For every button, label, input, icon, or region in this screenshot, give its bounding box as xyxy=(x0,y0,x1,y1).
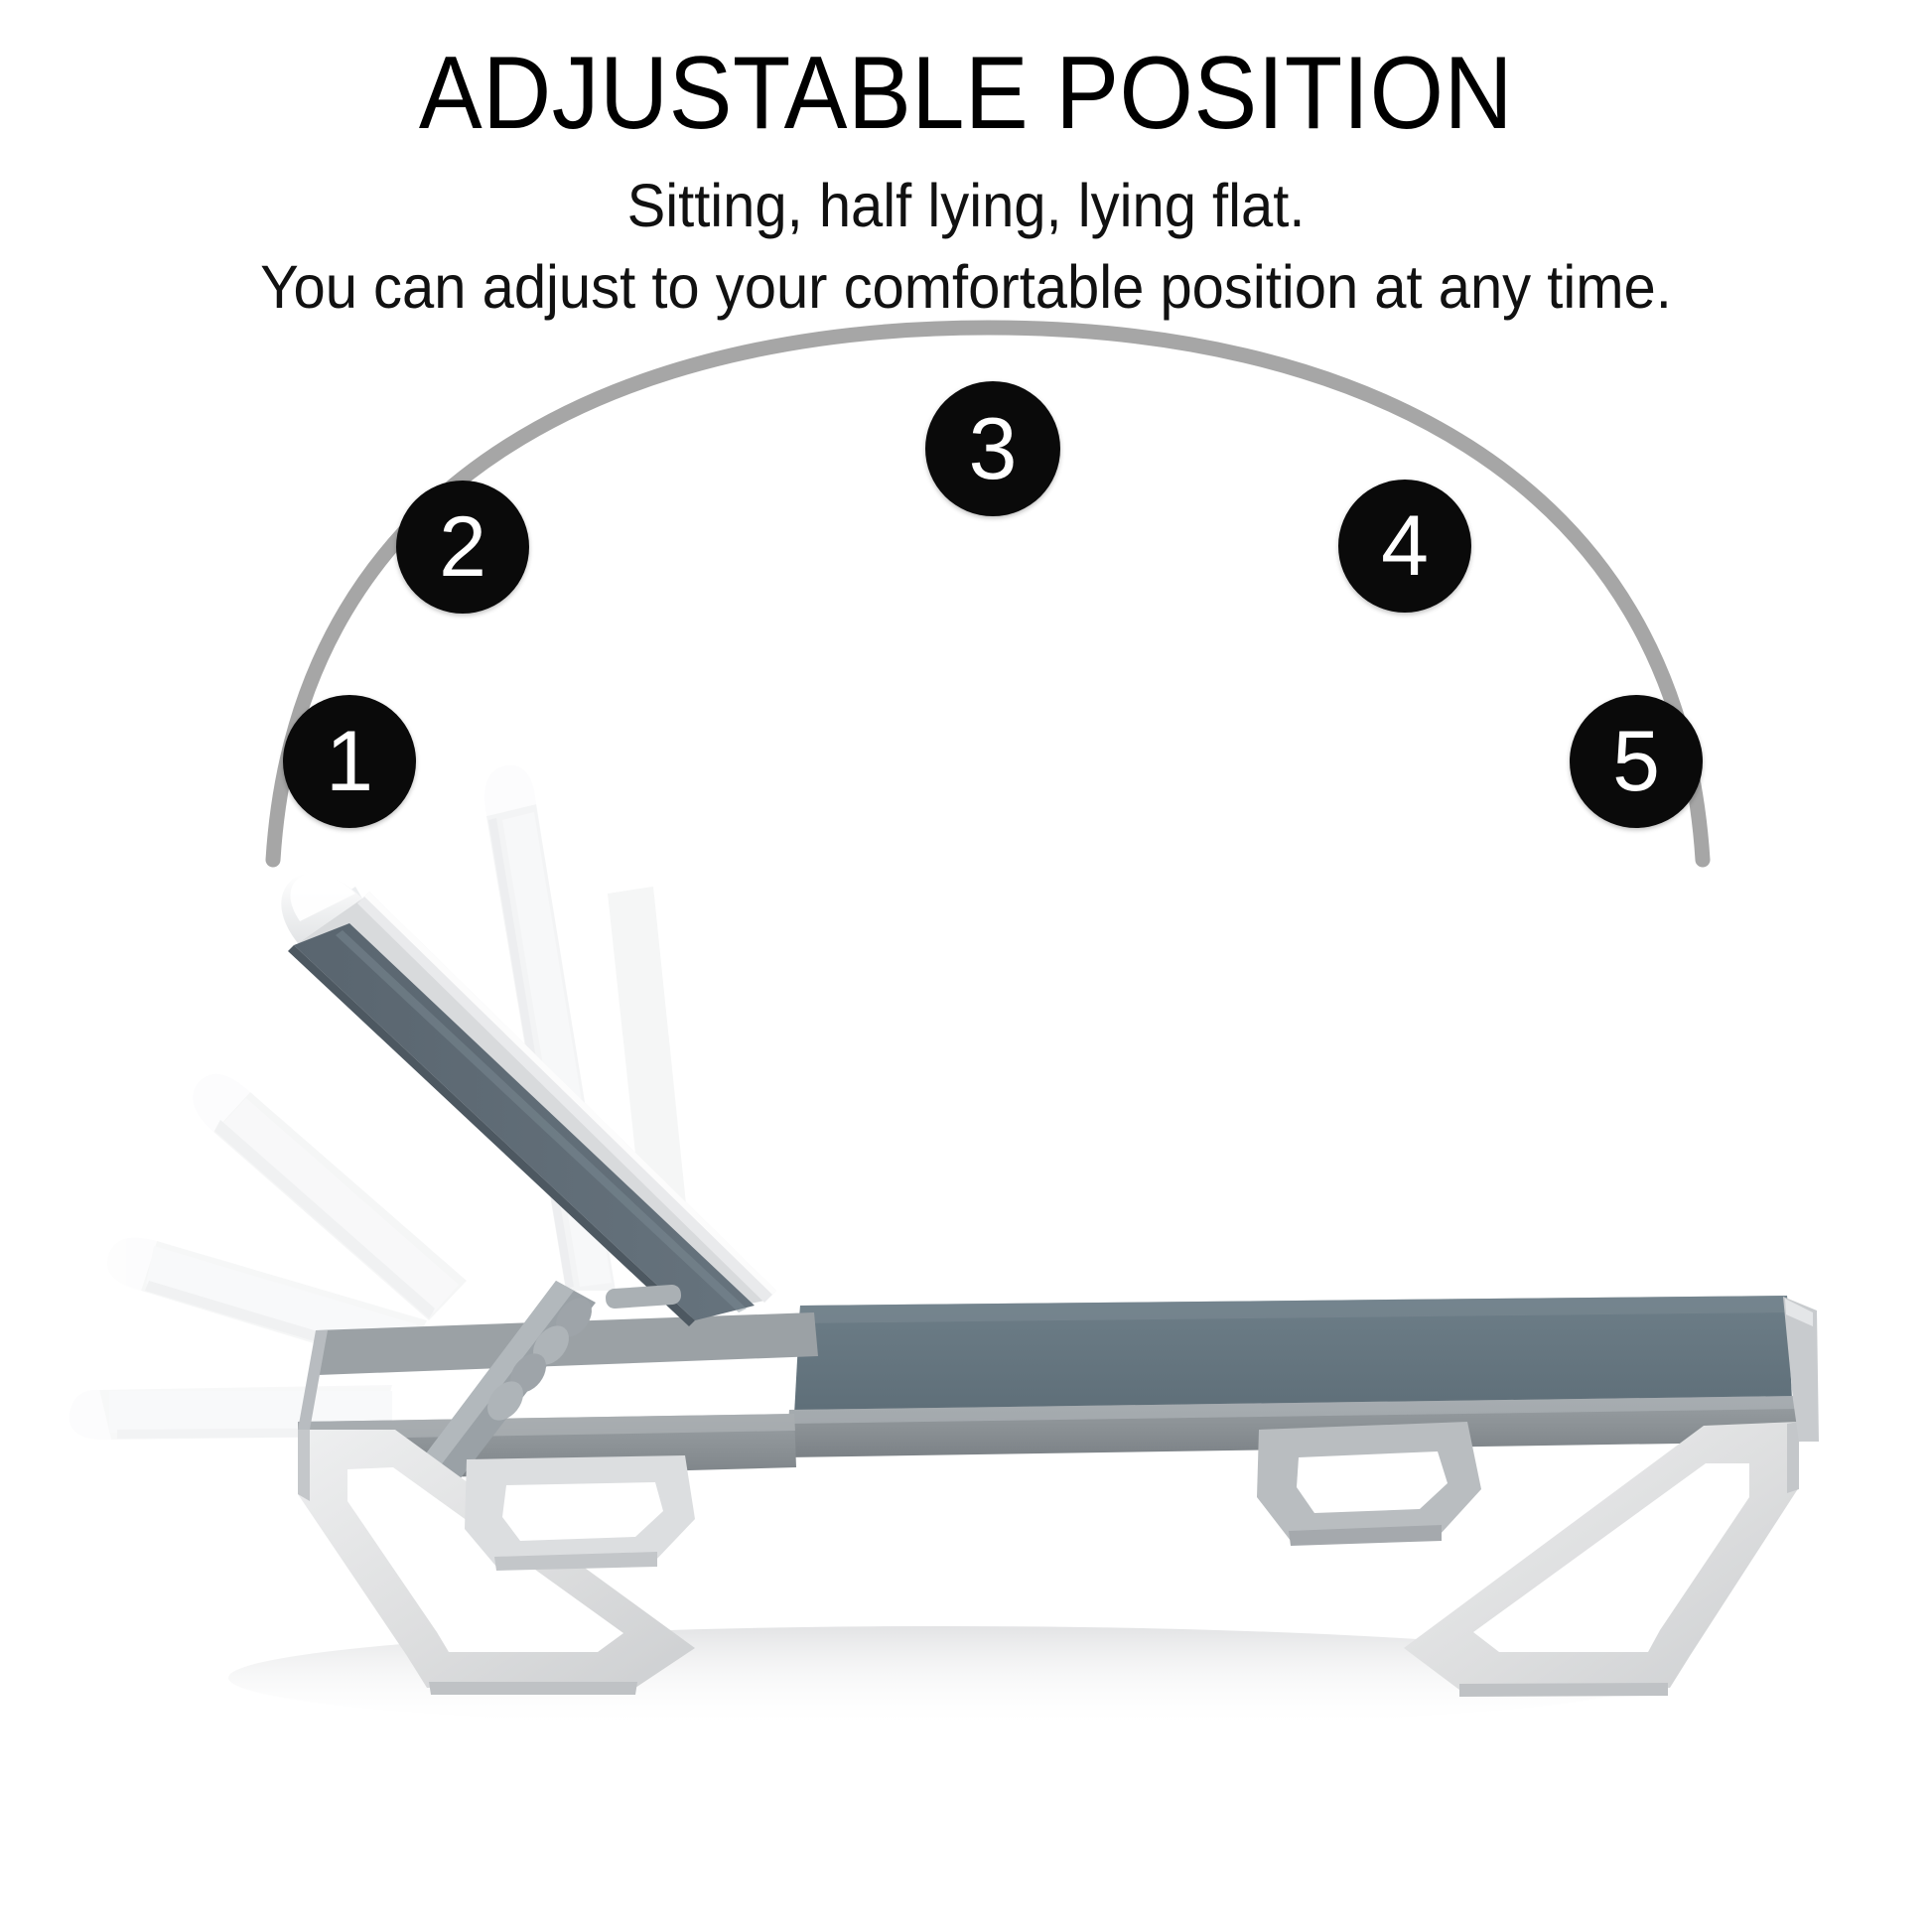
leg-rear-left xyxy=(465,1455,695,1571)
chaise-lounger-icon xyxy=(0,0,1932,1932)
infographic-canvas: ADJUSTABLE POSITION Sitting, half lying,… xyxy=(0,0,1932,1932)
seat-fabric-panel xyxy=(794,1296,1792,1415)
leg-rear-right xyxy=(1257,1422,1481,1546)
